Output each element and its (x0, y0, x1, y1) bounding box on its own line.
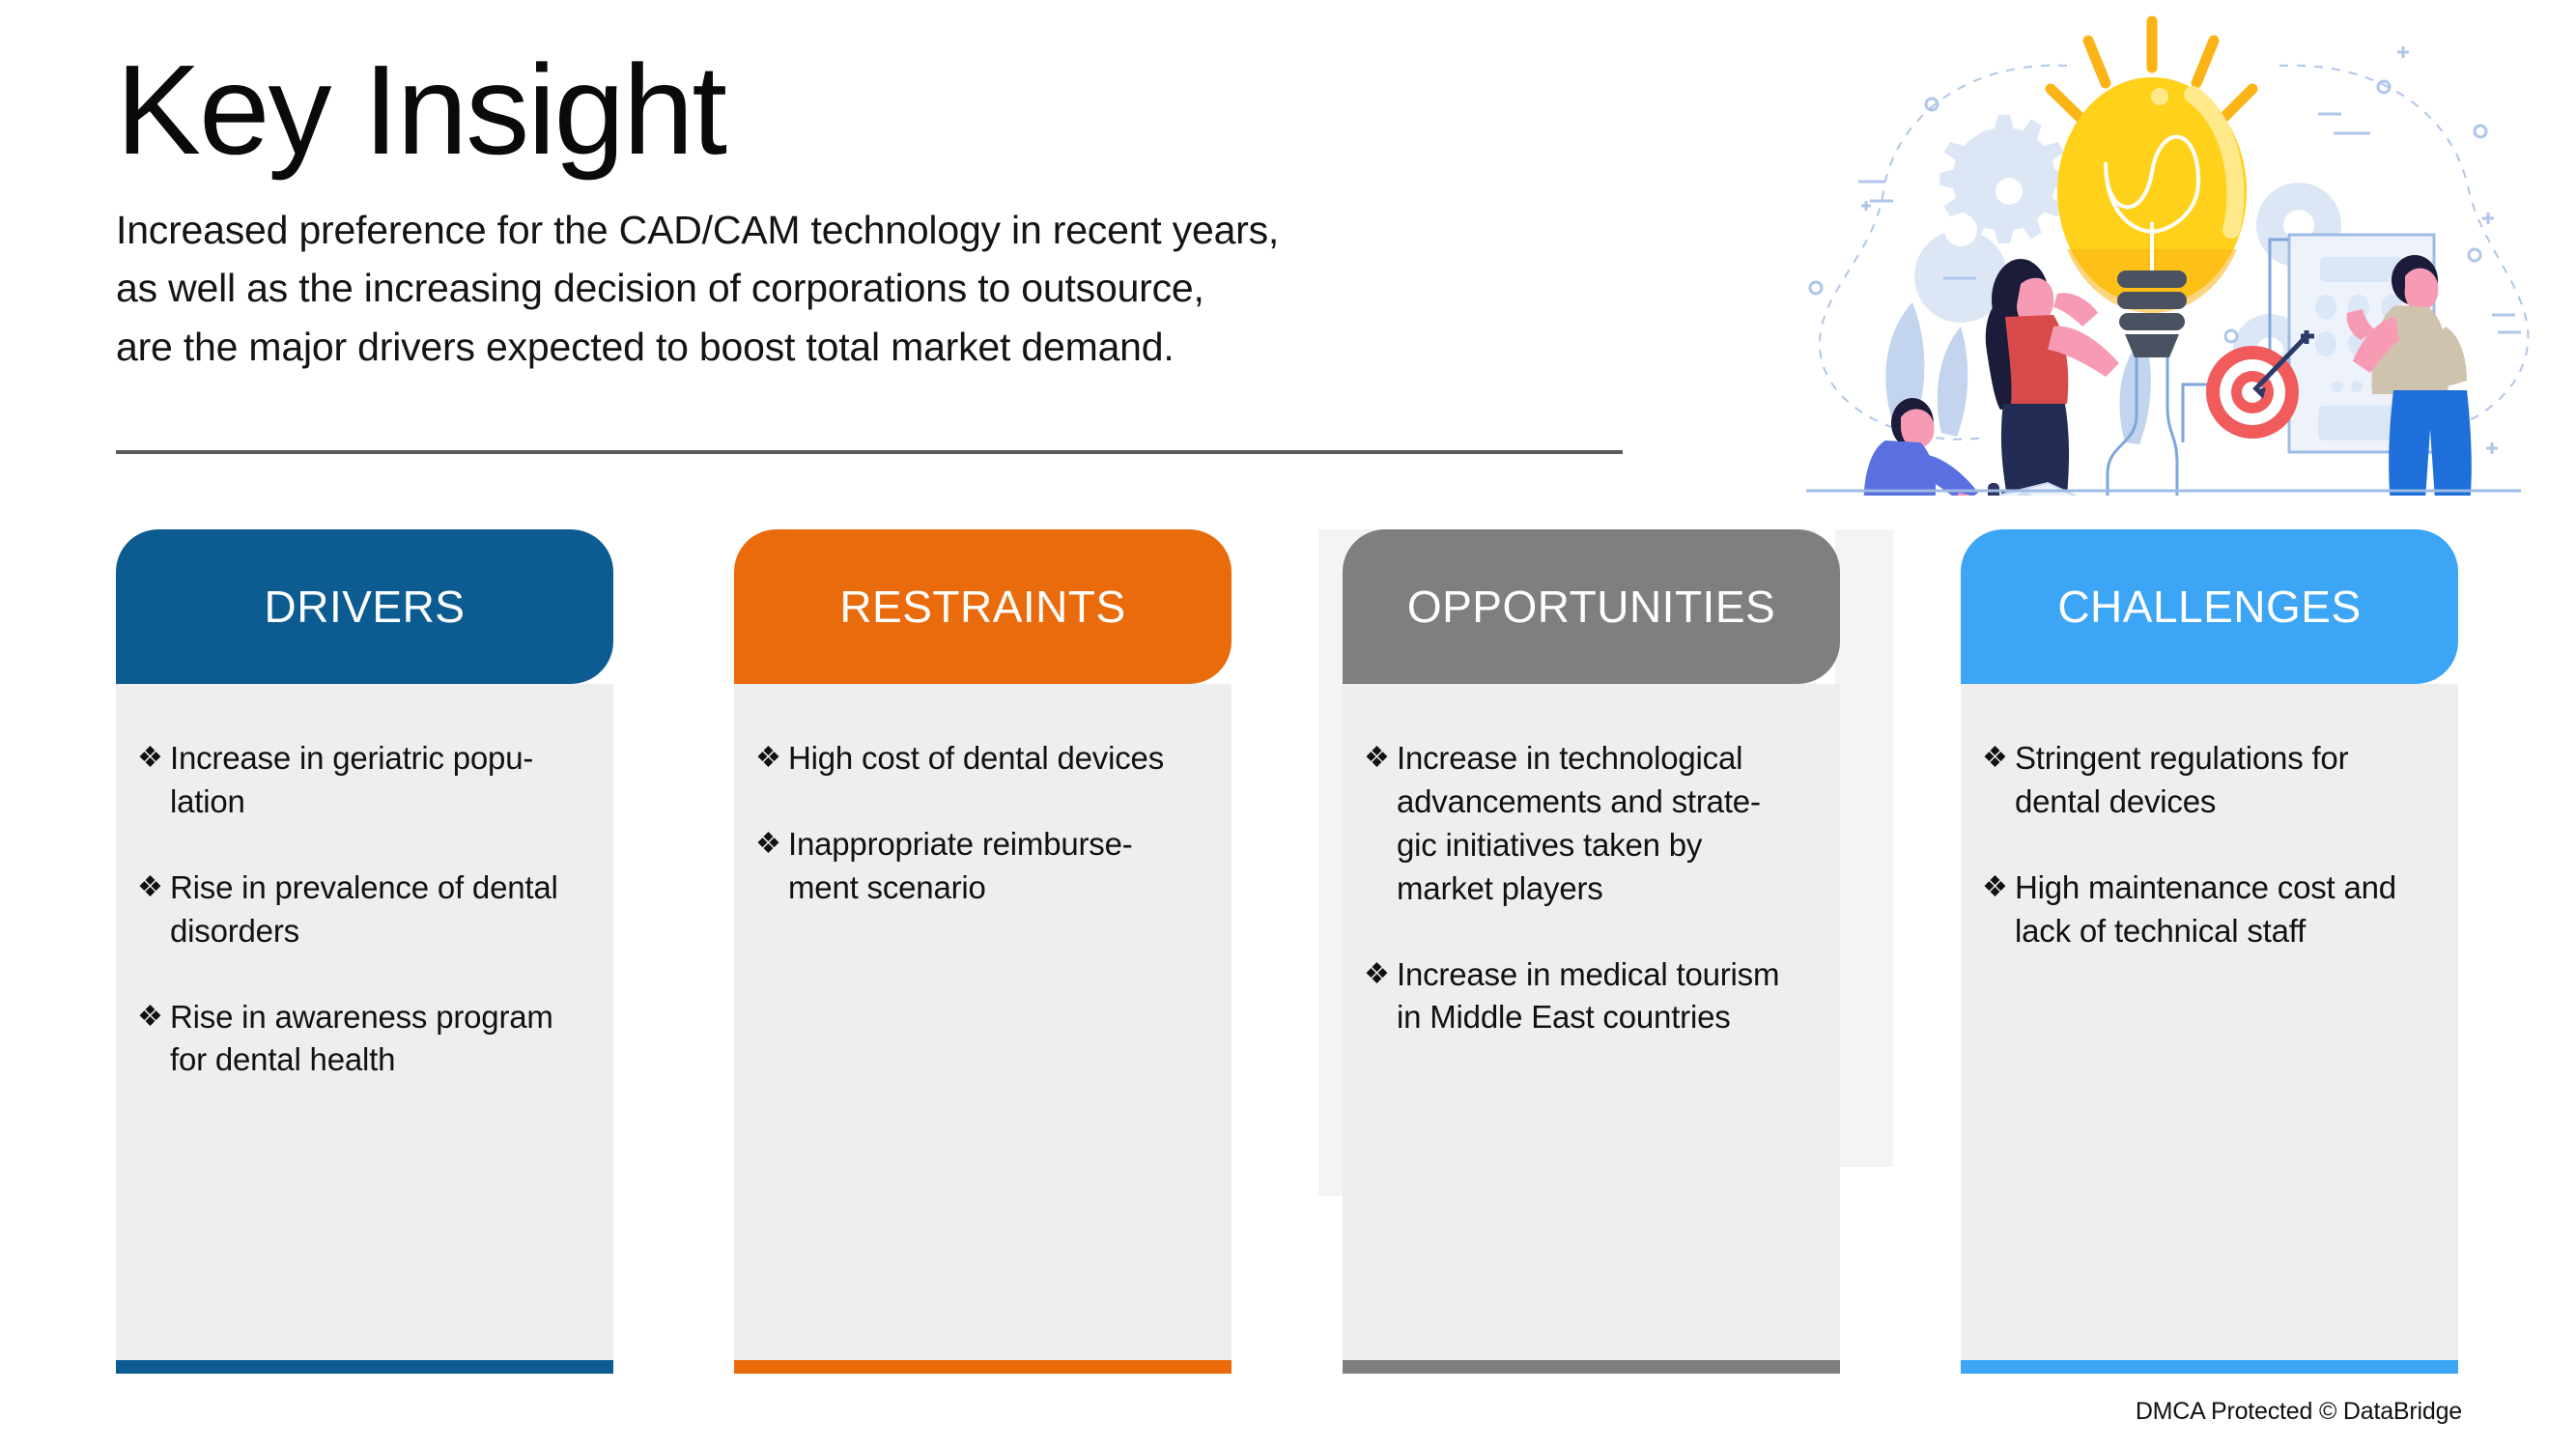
diamond-bullet-icon: ❖ (137, 868, 170, 908)
card-accent-bar-drivers (116, 1360, 613, 1374)
list-item: ❖ Increase in geriatric popu- lation (137, 737, 588, 824)
card-header-drivers[interactable]: DRIVERS (116, 529, 613, 684)
list-item: ❖ High cost of dental devices (755, 737, 1206, 781)
list-item-line: lack of technical staff (2015, 910, 2396, 953)
list-item: ❖ High maintenance cost and lack of tech… (1982, 867, 2433, 953)
list-item-text: High cost of dental devices (788, 737, 1164, 781)
list-item-text: Rise in awareness program for dental hea… (170, 996, 553, 1083)
page-title: Key Insight (116, 43, 1777, 178)
list-item-line: Increase in medical tourism (1397, 953, 1779, 997)
list-item-line: for dental health (170, 1038, 553, 1082)
footer-copyright: DMCA Protected © DataBridge (2136, 1398, 2462, 1426)
list-item: ❖ Rise in awareness program for dental h… (137, 996, 588, 1083)
list-item-line: Rise in awareness program (170, 996, 553, 1039)
diamond-bullet-icon: ❖ (1364, 739, 1397, 779)
list-item: ❖ Stringent regulations for dental devic… (1982, 737, 2433, 824)
list-item-text: Increase in technological advancements a… (1397, 737, 1761, 911)
card-title-opportunities: OPPORTUNITIES (1407, 581, 1775, 633)
list-item-text: Increase in geriatric popu- lation (170, 737, 533, 824)
card-title-drivers: DRIVERS (265, 581, 466, 633)
list-item-text: High maintenance cost and lack of techni… (2015, 867, 2396, 953)
list-item-line: Increase in geriatric popu- (170, 737, 533, 781)
list-item-line: Stringent regulations for (2015, 737, 2348, 781)
diamond-bullet-icon: ❖ (755, 739, 788, 779)
list-item-line: in Middle East countries (1397, 996, 1779, 1039)
list-item-line: advancements and strate- (1397, 781, 1761, 824)
list-item-text: Rise in prevalence of dental disorders (170, 867, 558, 953)
diamond-bullet-icon: ❖ (137, 998, 170, 1037)
card-title-restraints: RESTRAINTS (839, 581, 1125, 633)
card-accent-bar-challenges (1961, 1360, 2458, 1374)
bullet-list-restraints: ❖ High cost of dental devices ❖ Inapprop… (734, 737, 1231, 952)
card-accent-bar-restraints (734, 1360, 1231, 1374)
list-item-line: disorders (170, 910, 558, 953)
card-header-opportunities[interactable]: OPPORTUNITIES (1343, 529, 1840, 684)
list-item-text: Inappropriate reimburse- ment scenario (788, 823, 1133, 910)
list-item-line: High maintenance cost and (2015, 867, 2396, 910)
subtitle-line: Increased preference for the CAD/CAM tec… (116, 201, 1777, 260)
diamond-bullet-icon: ❖ (1982, 739, 2015, 779)
swot-cards: DRIVERS ❖ Increase in geriatric popu- la… (0, 529, 2576, 1379)
bullet-list-opportunities: ❖ Increase in technological advancements… (1343, 737, 1840, 1082)
idea-lightbulb-teamwork-illustration (1777, 8, 2550, 496)
header-divider (116, 450, 1623, 454)
list-item-line: Inappropriate reimburse- (788, 823, 1133, 867)
diamond-bullet-icon: ❖ (755, 825, 788, 865)
diamond-bullet-icon: ❖ (1364, 955, 1397, 995)
list-item-line: dental devices (2015, 781, 2348, 824)
subtitle: Increased preference for the CAD/CAM tec… (116, 201, 1777, 377)
diamond-bullet-icon: ❖ (1982, 868, 2015, 908)
bullet-list-challenges: ❖ Stringent regulations for dental devic… (1961, 737, 2458, 996)
list-item-line: Increase in technological (1397, 737, 1761, 781)
list-item-line: lation (170, 781, 533, 824)
card-title-challenges: CHALLENGES (2057, 581, 2361, 633)
list-item-line: market players (1397, 867, 1761, 911)
list-item-line: High cost of dental devices (788, 737, 1164, 781)
list-item-line: ment scenario (788, 867, 1133, 910)
card-header-challenges[interactable]: CHALLENGES (1961, 529, 2458, 684)
card-accent-bar-opportunities (1343, 1360, 1840, 1374)
list-item-line: Rise in prevalence of dental (170, 867, 558, 910)
diamond-bullet-icon: ❖ (137, 739, 170, 779)
subtitle-line: are the major drivers expected to boost … (116, 318, 1777, 377)
list-item: ❖ Increase in technological advancements… (1364, 737, 1815, 911)
list-item: ❖ Rise in prevalence of dental disorders (137, 867, 588, 953)
slide-root: Key Insight Increased preference for the… (0, 0, 2576, 1449)
list-item-text: Increase in medical tourism in Middle Ea… (1397, 953, 1779, 1040)
subtitle-line: as well as the increasing decision of co… (116, 259, 1777, 318)
list-item: ❖ Inappropriate reimburse- ment scenario (755, 823, 1206, 910)
list-item: ❖ Increase in medical tourism in Middle … (1364, 953, 1815, 1040)
bullet-list-drivers: ❖ Increase in geriatric popu- lation ❖ R… (116, 737, 613, 1124)
list-item-text: Stringent regulations for dental devices (2015, 737, 2348, 824)
card-header-restraints[interactable]: RESTRAINTS (734, 529, 1231, 684)
header: Key Insight Increased preference for the… (116, 43, 1777, 377)
list-item-line: gic initiatives taken by (1397, 824, 1761, 867)
